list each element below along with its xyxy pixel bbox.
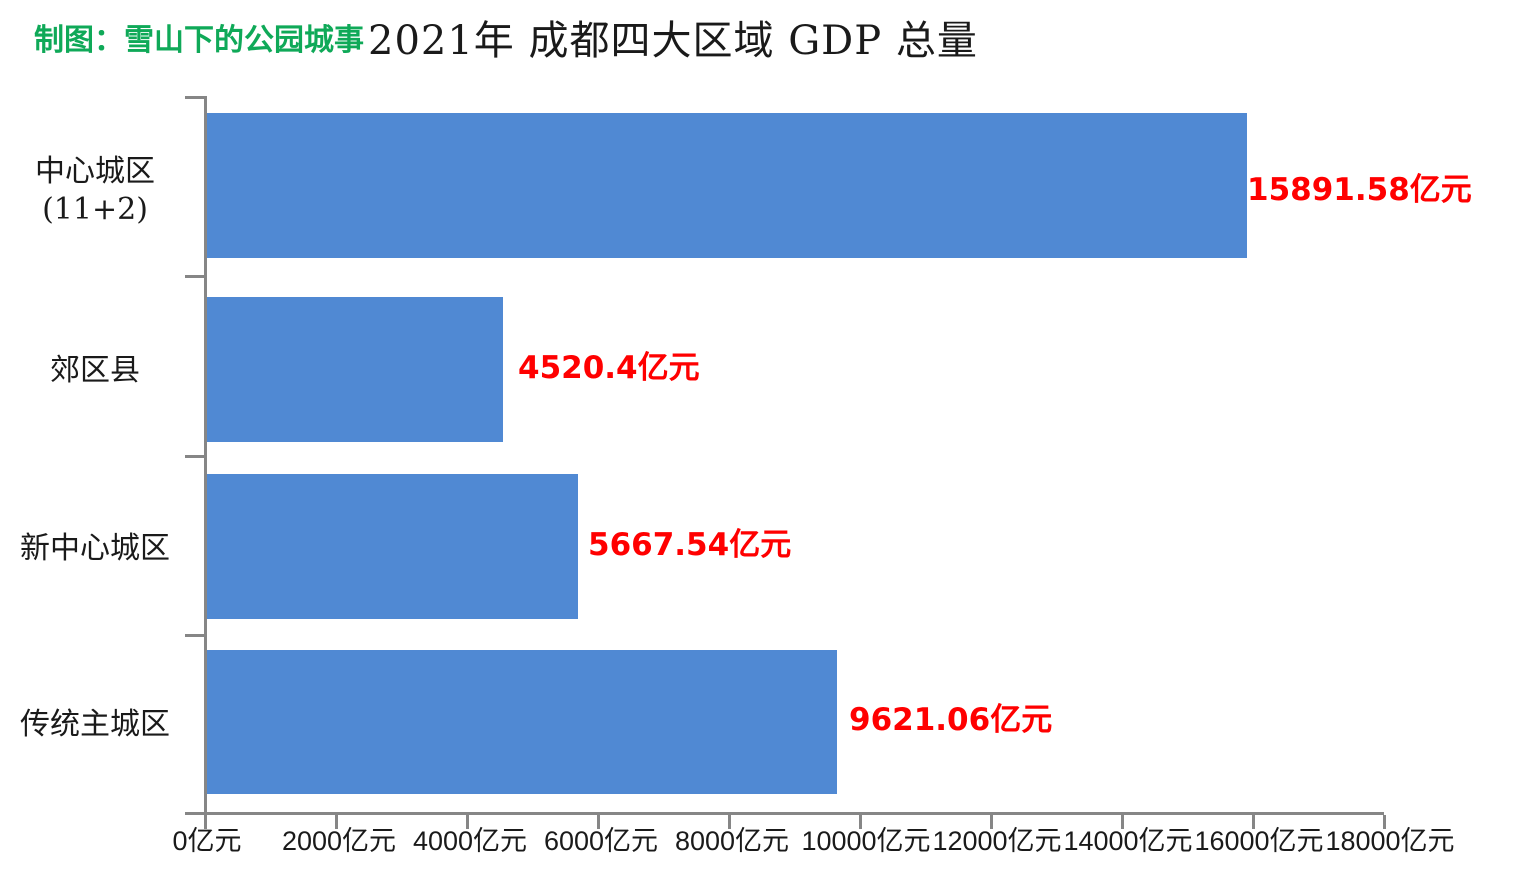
y-axis-category-label-2: 新中心城区 — [0, 530, 190, 568]
category-label-line: 中心城区 — [0, 153, 190, 191]
y-axis-category-label-0: 中心城区 (11+2) — [0, 153, 190, 230]
x-axis-tick-label: 18000亿元 — [1325, 828, 1454, 855]
y-axis-tick — [185, 96, 205, 99]
y-axis-tick — [185, 634, 205, 637]
bar-value-label: 9621.06亿元 — [849, 705, 1052, 736]
y-axis-tick — [185, 812, 205, 815]
x-axis-tick-label: 8000亿元 — [675, 828, 789, 855]
x-axis-tick-label: 12000亿元 — [932, 828, 1061, 855]
bar-value-label: 15891.58亿元 — [1247, 175, 1472, 206]
category-label-line: (11+2) — [0, 191, 190, 229]
x-axis-tick-label: 14000亿元 — [1063, 828, 1192, 855]
bar-chart-plot: 15891.58亿元 4520.4亿元 5667.54亿元 9621.06亿元 … — [0, 0, 1524, 888]
x-axis-tick-label: 10000亿元 — [801, 828, 930, 855]
category-label-line: 新中心城区 — [0, 530, 190, 568]
category-label-line: 郊区县 — [0, 352, 190, 390]
x-axis-tick-label: 0亿元 — [172, 828, 241, 855]
y-axis-category-label-1: 郊区县 — [0, 352, 190, 390]
x-axis-tick-label: 16000亿元 — [1194, 828, 1323, 855]
x-axis-line — [204, 812, 1384, 815]
x-axis-tick-label: 4000亿元 — [413, 828, 527, 855]
bar-xin-zhongxin-chengqu[interactable] — [207, 474, 578, 619]
x-axis-tick-label: 6000亿元 — [544, 828, 658, 855]
bar-chuantong-zhuchengqu[interactable] — [207, 650, 837, 794]
bar-value-label: 5667.54亿元 — [588, 530, 791, 561]
y-axis-tick — [185, 275, 205, 278]
y-axis-tick — [185, 455, 205, 458]
category-label-line: 传统主城区 — [0, 706, 190, 744]
bar-jiaoqu-xian[interactable] — [207, 297, 503, 442]
x-axis-tick-label: 2000亿元 — [282, 828, 396, 855]
bar-value-label: 4520.4亿元 — [518, 353, 700, 384]
bar-zhongxin-chengqu[interactable] — [207, 113, 1247, 258]
y-axis-category-label-3: 传统主城区 — [0, 706, 190, 744]
